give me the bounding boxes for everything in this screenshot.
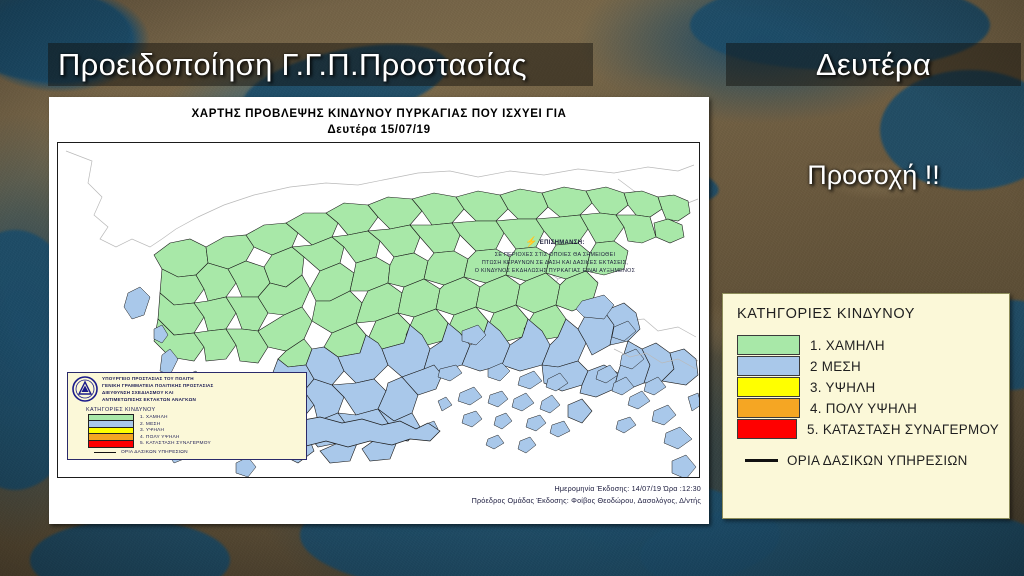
map-note-line2: ΠΤΩΣΗ ΚΕΡΑΥΝΩΝ ΣΕ ΔΑΣΗ ΚΑΙ ΔΑΣΙΚΕΣ ΕΚΤΑΣ…	[410, 259, 700, 267]
legend-rows: 1. ΧΑΜΗΛΗ2 ΜΕΣΗ3. ΥΨΗΛΗ4. ΠΟΛΥ ΥΨΗΛΗ5. Κ…	[737, 335, 999, 439]
inset-legend-header: ΥΠΟΥΡΓΕΙΟ ΠΡΟΣΤΑΣΙΑΣ ΤΟΥ ΠΟΛΙΤΗ ΓΕΝΙΚΗ Γ…	[72, 376, 302, 404]
map-note-line3: Ο ΚΙΝΔΥΝΟΣ ΕΚΔΗΛΩΣΗΣ ΠΥΡΚΑΓΙΑΣ ΕΙΝΑΙ ΑΥΞ…	[410, 267, 700, 275]
slide-title: Προειδοποίηση Γ.Γ.Π.Προστασίας	[58, 47, 527, 83]
lightning-bolt-icon: ⚡	[525, 237, 538, 248]
map-footer: Ημερομηνία Έκδοσης: 14/07/19 Ώρα :12:30 …	[49, 483, 701, 507]
slide-canvas: Προειδοποίηση Γ.Γ.Π.Προστασίας Δευτέρα Π…	[0, 0, 1024, 576]
risk-categories-legend: ΚΑΤΗΓΟΡΙΕΣ ΚΙΝΔΥΝΟΥ 1. ΧΑΜΗΛΗ2 ΜΕΣΗ3. ΥΨ…	[722, 293, 1010, 519]
legend-label: 1. ΧΑΜΗΛΗ	[810, 338, 885, 353]
legend-label: 5. ΚΑΤΑΣΤΑΣΗ ΣΥΝΑΓΕΡΜΟΥ	[807, 422, 999, 437]
inset-legend-title: ΚΑΤΗΓΟΡΙΕΣ ΚΙΝΔΥΝΟΥ	[86, 407, 302, 413]
inset-legend-boundary-row: ΟΡΙΑ ΔΑΣΙΚΩΝ ΥΠΗΡΕΣΙΩΝ	[94, 450, 302, 455]
map-note-heading-row: ⚡ ΕΠΙΣΗΜΑΝΣΗ:	[410, 235, 700, 251]
inset-legend-label: 5. ΚΑΤΑΣΤΑΣΗ ΣΥΝΑΓΕΡΜΟΥ	[140, 441, 211, 446]
inset-legend-rows: 1. ΧΑΜΗΛΗ2. ΜΕΣΗ3. ΥΨΗΛΗ4. ΠΟΛΥ ΥΨΗΛΗ5. …	[88, 415, 302, 448]
legend-boundary-row: ΟΡΙΑ ΔΑΣΙΚΩΝ ΥΠΗΡΕΣΙΩΝ	[737, 453, 999, 468]
legend-title: ΚΑΤΗΓΟΡΙΕΣ ΚΙΝΔΥΝΟΥ	[737, 306, 999, 322]
map-inset-legend: ΥΠΟΥΡΓΕΙΟ ΠΡΟΣΤΑΣΙΑΣ ΤΟΥ ΠΟΛΙΤΗ ΓΕΝΙΚΗ Γ…	[67, 372, 307, 460]
inset-boundary-label: ΟΡΙΑ ΔΑΣΙΚΩΝ ΥΠΗΡΕΣΙΩΝ	[121, 450, 188, 455]
legend-color-swatch	[737, 335, 800, 355]
inset-legend-label: 2. ΜΕΣΗ	[140, 422, 160, 427]
inset-legend-row: 5. ΚΑΤΑΣΤΑΣΗ ΣΥΝΑΓΕΡΜΟΥ	[88, 441, 302, 448]
ministry-line-1: ΥΠΟΥΡΓΕΙΟ ΠΡΟΣΤΑΣΙΑΣ ΤΟΥ ΠΟΛΙΤΗ	[102, 376, 214, 383]
map-drawing-frame: .g { fill:#a8e8a8; stroke:#1a1a1a; strok…	[57, 142, 700, 478]
legend-row: 2 ΜΕΣΗ	[737, 356, 999, 376]
issuing-chair: Πρόεδρος Ομάδας Έκδοσης: Φοίβος Θεοδώρου…	[49, 495, 701, 507]
legend-color-swatch	[737, 419, 797, 439]
boundary-line-icon	[94, 452, 116, 454]
legend-row: 5. ΚΑΤΑΣΤΑΣΗ ΣΥΝΑΓΕΡΜΟΥ	[737, 419, 999, 439]
map-title-line2: Δευτέρα 15/07/19	[49, 122, 709, 138]
inset-legend-label: 1. ΧΑΜΗΛΗ	[140, 415, 168, 420]
inset-color-swatch	[88, 440, 134, 448]
legend-color-swatch	[737, 356, 800, 376]
legend-row: 4. ΠΟΛΥ ΥΨΗΛΗ	[737, 398, 999, 418]
map-note-heading: ΕΠΙΣΗΜΑΝΣΗ:	[540, 240, 585, 246]
legend-label: 2 ΜΕΣΗ	[810, 359, 861, 374]
legend-color-swatch	[737, 377, 800, 397]
legend-color-swatch	[737, 398, 800, 418]
inset-legend-label: 4. ΠΟΛΥ ΥΨΗΛΗ	[140, 435, 180, 440]
fire-risk-map-panel: ΧΑΡΤΗΣ ΠΡΟΒΛΕΨΗΣ ΚΙΝΔΥΝΟΥ ΠΥΡΚΑΓΙΑΣ ΠΟΥ …	[49, 97, 709, 524]
civil-protection-emblem-icon	[72, 376, 98, 402]
map-title-line1: ΧΑΡΤΗΣ ΠΡΟΒΛΕΨΗΣ ΚΙΝΔΥΝΟΥ ΠΥΡΚΑΓΙΑΣ ΠΟΥ …	[49, 106, 709, 122]
map-note-line1: ΣΕ ΠΕΡΙΟΧΕΣ ΣΤΙΣ ΟΠΟΙΕΣ ΘΑ ΣΗΜΕΙΩΘΕΙ	[410, 251, 700, 259]
ministry-line-4: ΑΝΤΙΜΕΤΩΠΙΣΗΣ ΕΚΤΑΚΤΩΝ ΑΝΑΓΚΩΝ	[102, 397, 214, 404]
legend-row: 3. ΥΨΗΛΗ	[737, 377, 999, 397]
map-title: ΧΑΡΤΗΣ ΠΡΟΒΛΕΨΗΣ ΚΙΝΔΥΝΟΥ ΠΥΡΚΑΓΙΑΣ ΠΟΥ …	[49, 106, 709, 137]
legend-label: 4. ΠΟΛΥ ΥΨΗΛΗ	[810, 401, 917, 416]
ministry-line-3: ΔΙΕΥΘΥΝΣΗ ΣΧΕΔΙΑΣΜΟΥ ΚΑΙ	[102, 390, 214, 397]
slide-day-title: Δευτέρα	[816, 47, 931, 83]
slide-title-band-left: Προειδοποίηση Γ.Γ.Π.Προστασίας	[48, 43, 593, 86]
forest-service-boundary-icon	[745, 459, 778, 462]
ministry-line-2: ΓΕΝΙΚΗ ΓΡΑΜΜΑΤΕΙΑ ΠΟΛΙΤΙΚΗΣ ΠΡΟΣΤΑΣΙΑΣ	[102, 383, 214, 390]
issue-datetime: Ημερομηνία Έκδοσης: 14/07/19 Ώρα :12:30	[49, 483, 701, 495]
inset-ministry-block: ΥΠΟΥΡΓΕΙΟ ΠΡΟΣΤΑΣΙΑΣ ΤΟΥ ΠΟΛΙΤΗ ΓΕΝΙΚΗ Γ…	[102, 376, 214, 404]
inset-legend-label: 3. ΥΨΗΛΗ	[140, 428, 164, 433]
attention-text: Προσοχή !!	[726, 160, 1021, 191]
legend-boundary-label: ΟΡΙΑ ΔΑΣΙΚΩΝ ΥΠΗΡΕΣΙΩΝ	[787, 453, 968, 468]
slide-title-band-right: Δευτέρα	[726, 43, 1021, 86]
legend-label: 3. ΥΨΗΛΗ	[810, 380, 875, 395]
map-note: ⚡ ΕΠΙΣΗΜΑΝΣΗ: ΣΕ ΠΕΡΙΟΧΕΣ ΣΤΙΣ ΟΠΟΙΕΣ ΘΑ…	[410, 235, 700, 276]
legend-row: 1. ΧΑΜΗΛΗ	[737, 335, 999, 355]
